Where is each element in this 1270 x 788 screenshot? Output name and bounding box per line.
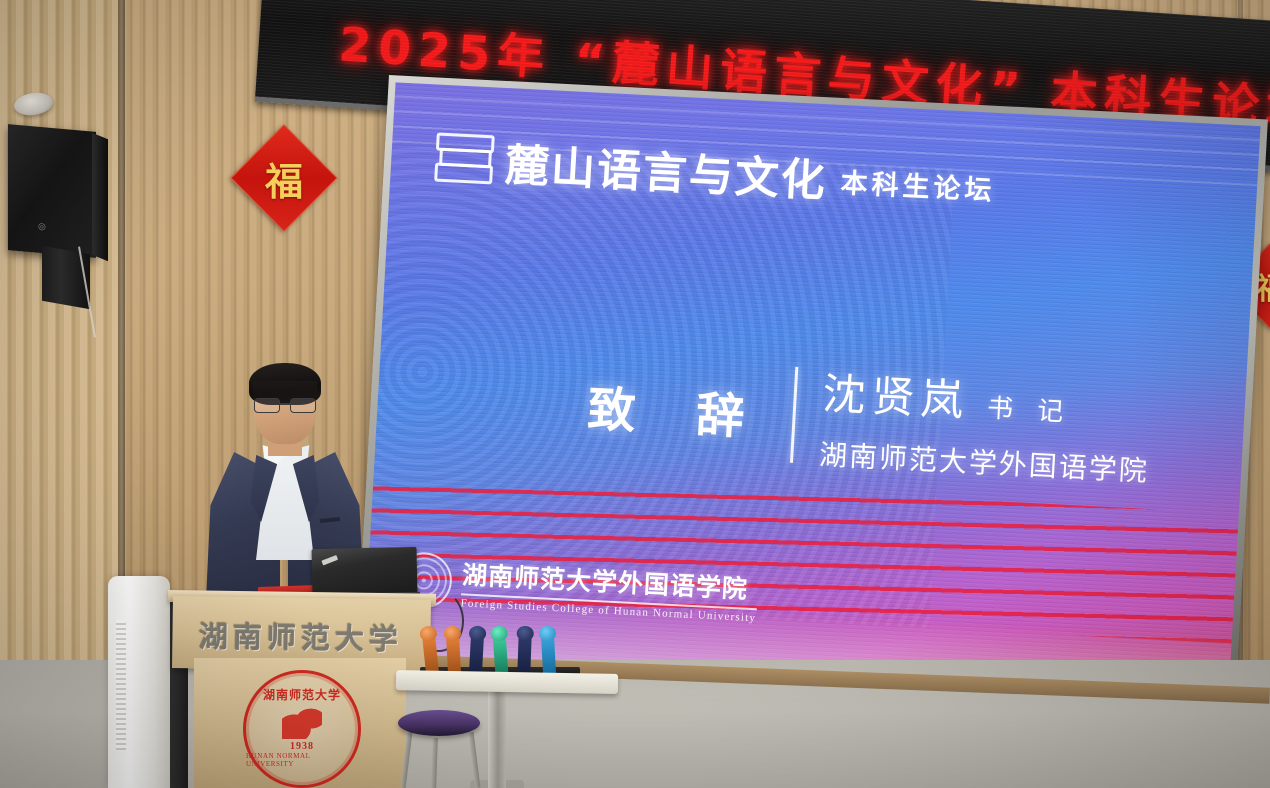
microphone-5 xyxy=(517,634,531,674)
air-conditioner xyxy=(108,576,170,788)
screen-title: 麓山语言与文化 xyxy=(504,144,828,204)
led-screen: 麓山语言与文化 本科生论坛 致 辞 沈贤岚 书 记 湖南师范大学外国语学院 湖南… xyxy=(363,82,1260,701)
laptop-brand-logo xyxy=(321,555,338,565)
led-screen-frame: 麓山语言与文化 本科生论坛 致 辞 沈贤岚 书 记 湖南师范大学外国语学院 湖南… xyxy=(356,75,1268,709)
screen-subtitle: 本科生论坛 xyxy=(840,161,997,208)
presenter-organization: 湖南师范大学外国语学院 xyxy=(818,433,1150,490)
auditorium-photo: 2025年 “麓山语言与文化” 本科生论坛 福 福 ◎ 麓山语言与文化 本科生论… xyxy=(0,0,1270,788)
air-conditioner-vents xyxy=(116,620,126,750)
fu-character-left: 福 xyxy=(247,141,321,215)
mic-table-stem xyxy=(488,678,506,788)
presenter-block: 沈贤岚 书 记 湖南师范大学外国语学院 xyxy=(818,359,1154,490)
seal-emblem-icon xyxy=(282,705,322,739)
presenter-name: 沈贤岚 xyxy=(821,359,971,428)
laptop xyxy=(312,547,418,597)
vertical-divider xyxy=(790,367,798,463)
university-seal: 湖南师范大学 1938 HUNAN NORMAL UNIVERSITY xyxy=(243,670,361,788)
seal-name-cn: 湖南师范大学 xyxy=(263,686,341,703)
microphone-3 xyxy=(469,634,484,675)
screen-center-block: 致 辞 沈贤岚 书 记 湖南师范大学外国语学院 xyxy=(585,348,1154,490)
microphone-4 xyxy=(493,634,509,675)
microphone-6 xyxy=(541,634,556,675)
stacked-books-logo-icon xyxy=(434,132,492,181)
mic-table-top xyxy=(396,670,618,694)
speech-label: 致 辞 xyxy=(586,370,768,449)
microphone-2 xyxy=(446,634,461,675)
seal-name-en: HUNAN NORMAL UNIVERSITY xyxy=(246,752,358,768)
presenter-role: 书 记 xyxy=(986,388,1072,429)
seal-year: 1938 xyxy=(290,741,314,752)
loudspeaker-side-panel xyxy=(92,133,108,261)
glasses-icon xyxy=(253,398,317,411)
podium-name-plate: 湖南师范大学 xyxy=(186,610,417,661)
loudspeaker-brand-logo: ◎ xyxy=(38,221,56,232)
wall-loudspeaker: ◎ xyxy=(8,124,96,258)
presenter-name-row: 沈贤岚 书 记 xyxy=(821,359,1154,438)
stool-seat xyxy=(398,710,480,736)
